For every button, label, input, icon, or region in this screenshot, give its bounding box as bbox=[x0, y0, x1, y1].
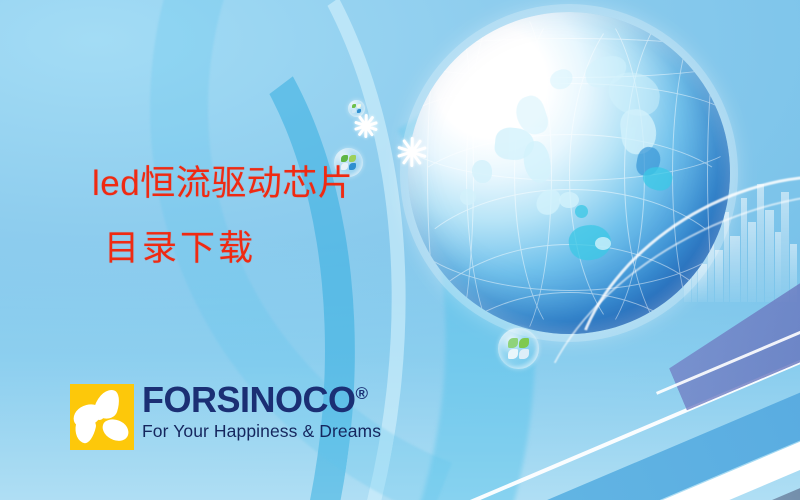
logo-text-block: FORSINOCO® For Your Happiness & Dreams bbox=[142, 382, 381, 441]
pinwheel-icon bbox=[352, 104, 361, 113]
daisy-flower-1 bbox=[354, 114, 378, 138]
bubble-pinwheel-3 bbox=[498, 328, 539, 369]
globe-landmass bbox=[521, 139, 552, 184]
globe-landmass bbox=[472, 160, 491, 183]
promo-banner: led恒流驱动芯片 目录下载 FORSINOCO® For Your Happi… bbox=[0, 0, 800, 500]
daisy-flower-2 bbox=[397, 137, 427, 167]
globe-landmass bbox=[559, 192, 578, 208]
page-title: led恒流驱动芯片 目录下载 bbox=[92, 166, 353, 266]
headline-line-1: led恒流驱动芯片 bbox=[92, 164, 353, 203]
globe-landmass bbox=[595, 237, 611, 250]
pinwheel-flower-icon bbox=[70, 384, 134, 450]
brand-name: FORSINOCO® bbox=[142, 382, 381, 418]
headline-line-2: 目录下载 bbox=[104, 231, 353, 266]
brand-logo[interactable]: FORSINOCO® For Your Happiness & Dreams bbox=[70, 384, 381, 450]
brand-tagline: For Your Happiness & Dreams bbox=[142, 421, 381, 441]
pinwheel-icon bbox=[508, 338, 529, 359]
brand-name-text: FORSINOCO bbox=[142, 379, 356, 420]
globe-landmass bbox=[547, 67, 575, 93]
globe-landmass bbox=[575, 205, 588, 218]
globe-landmass bbox=[460, 189, 476, 205]
bubble-pinwheel-1 bbox=[348, 100, 365, 117]
globe-landmass bbox=[534, 187, 562, 217]
registered-trademark-icon: ® bbox=[356, 384, 368, 403]
